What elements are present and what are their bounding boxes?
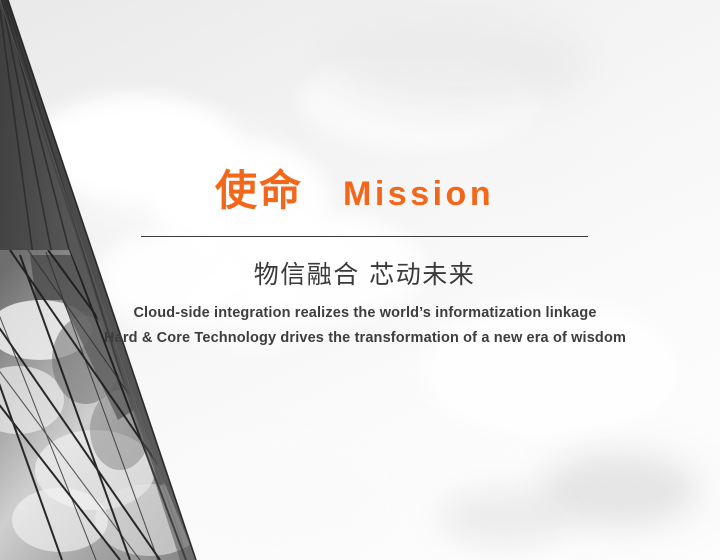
headline: 使命 Mission (141, 170, 588, 212)
text-content: 使命 Mission 物信融合 芯动未来 Cloud-side integrat… (0, 0, 720, 560)
subtitle-english-line-1: Cloud-side integration realizes the worl… (60, 301, 670, 326)
headline-chinese: 使命 (215, 170, 303, 212)
headline-divider (141, 236, 588, 237)
mission-banner: 使命 Mission 物信融合 芯动未来 Cloud-side integrat… (0, 0, 720, 560)
headline-english: Mission (343, 177, 494, 211)
subtitle-chinese: 物信融合 芯动未来 (141, 258, 588, 292)
subtitle-english-block: Cloud-side integration realizes the worl… (60, 301, 670, 351)
subtitle-english-line-2: Hard & Core Technology drives the transf… (60, 326, 670, 351)
